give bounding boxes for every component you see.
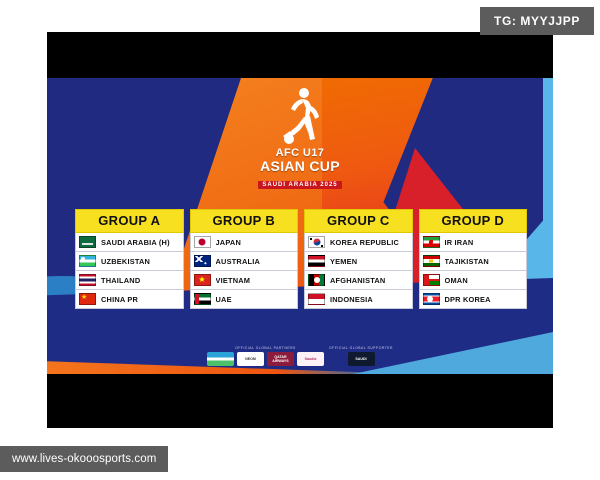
flag-saudi-arabia [79,236,96,248]
team-name: KOREA REPUBLIC [330,238,399,247]
tournament-logo: AFC U17 ASIAN CUP SAUDI ARABIA 2025 [252,86,348,191]
table-row[interactable]: OMAN [419,271,528,290]
sponsor-supporter-logos: SAUDI [348,352,375,366]
table-row[interactable]: AUSTRALIA [190,252,299,271]
sponsor-supporter-caption: OFFICIAL GLOBAL SUPPORTER [329,346,393,350]
team-name: UZBEKISTAN [101,257,150,266]
flag-thailand [79,274,96,286]
group-column-d: GROUP D IR IRAN TAJIKISTAN OMAN [419,209,528,309]
table-row[interactable]: IR IRAN [419,233,528,252]
table-row[interactable]: THAILAND [75,271,184,290]
telegram-watermark: TG: MYYJJPP [480,7,594,35]
sponsor-logo-supporter: SAUDI [348,352,375,366]
sponsor-logo-neom: NEOM [237,352,264,366]
table-row[interactable]: CHINA PR [75,290,184,309]
flag-oman [423,274,440,286]
flag-afghanistan [308,274,325,286]
flag-uzbekistan [79,255,96,267]
flag-iran [423,236,440,248]
table-row[interactable]: UAE [190,290,299,309]
group-header-b: GROUP B [190,209,299,233]
logo-line-3: SAUDI ARABIA 2025 [258,181,341,189]
team-name: TAJIKISTAN [445,257,489,266]
sponsor-partner-logos: NEOM QATAR AIRWAYS Saudia [207,352,324,366]
table-row[interactable]: DPR KOREA [419,290,528,309]
team-name: JAPAN [216,238,242,247]
table-row[interactable]: INDONESIA [304,290,413,309]
team-name: SAUDI ARABIA (H) [101,238,170,247]
sponsor-partners-caption: OFFICIAL GLOBAL PARTNERS [235,346,296,350]
football-player-icon [278,86,322,146]
flag-china [79,293,96,305]
group-column-b: GROUP B JAPAN AUSTRALIA VIETNAM [190,209,299,309]
team-name: AUSTRALIA [216,257,261,266]
table-row[interactable]: VIETNAM [190,271,299,290]
table-row[interactable]: UZBEKISTAN [75,252,184,271]
team-name: AFGHANISTAN [330,276,385,285]
team-name: CHINA PR [101,295,138,304]
flag-dpr-korea [423,293,440,305]
football-icon [284,134,294,144]
team-name: INDONESIA [330,295,373,304]
team-name: OMAN [445,276,468,285]
sponsor-group-supporter: OFFICIAL GLOBAL SUPPORTER SAUDI [329,346,393,366]
flag-japan [194,236,211,248]
flag-korea-republic [308,236,325,248]
flag-uae [194,293,211,305]
group-header-d: GROUP D [419,209,528,233]
logo-line-2: ASIAN CUP [252,159,348,173]
team-name: YEMEN [330,257,357,266]
group-header-c: GROUP C [304,209,413,233]
groups-container: GROUP A SAUDI ARABIA (H) UZBEKISTAN THAI… [75,209,527,309]
table-row[interactable]: KOREA REPUBLIC [304,233,413,252]
sponsor-logo-1 [207,352,234,366]
team-name: UAE [216,295,232,304]
sponsor-bar: OFFICIAL GLOBAL PARTNERS NEOM QATAR AIRW… [47,346,553,366]
team-name: IR IRAN [445,238,474,247]
group-draw-poster: AFC U17 ASIAN CUP SAUDI ARABIA 2025 GROU… [47,78,553,374]
site-watermark: www.lives-okooosports.com [0,446,168,472]
group-column-a: GROUP A SAUDI ARABIA (H) UZBEKISTAN THAI… [75,209,184,309]
flag-vietnam [194,274,211,286]
team-name: THAILAND [101,276,140,285]
flag-australia [194,255,211,267]
flag-yemen [308,255,325,267]
video-frame[interactable]: AFC U17 ASIAN CUP SAUDI ARABIA 2025 GROU… [47,32,553,428]
group-column-c: GROUP C KOREA REPUBLIC YEMEN AFGHANISTAN [304,209,413,309]
group-header-a: GROUP A [75,209,184,233]
flag-tajikistan [423,255,440,267]
sponsor-logo-qatar-airways: QATAR AIRWAYS [267,352,294,366]
sponsor-logo-saudia: Saudia [297,352,324,366]
team-name: VIETNAM [216,276,251,285]
table-row[interactable]: AFGHANISTAN [304,271,413,290]
table-row[interactable]: SAUDI ARABIA (H) [75,233,184,252]
table-row[interactable]: TAJIKISTAN [419,252,528,271]
table-row[interactable]: JAPAN [190,233,299,252]
team-name: DPR KOREA [445,295,491,304]
screenshot-root: AFC U17 ASIAN CUP SAUDI ARABIA 2025 GROU… [0,0,600,480]
sponsor-group-partners: OFFICIAL GLOBAL PARTNERS NEOM QATAR AIRW… [207,346,324,366]
flag-indonesia [308,293,325,305]
table-row[interactable]: YEMEN [304,252,413,271]
